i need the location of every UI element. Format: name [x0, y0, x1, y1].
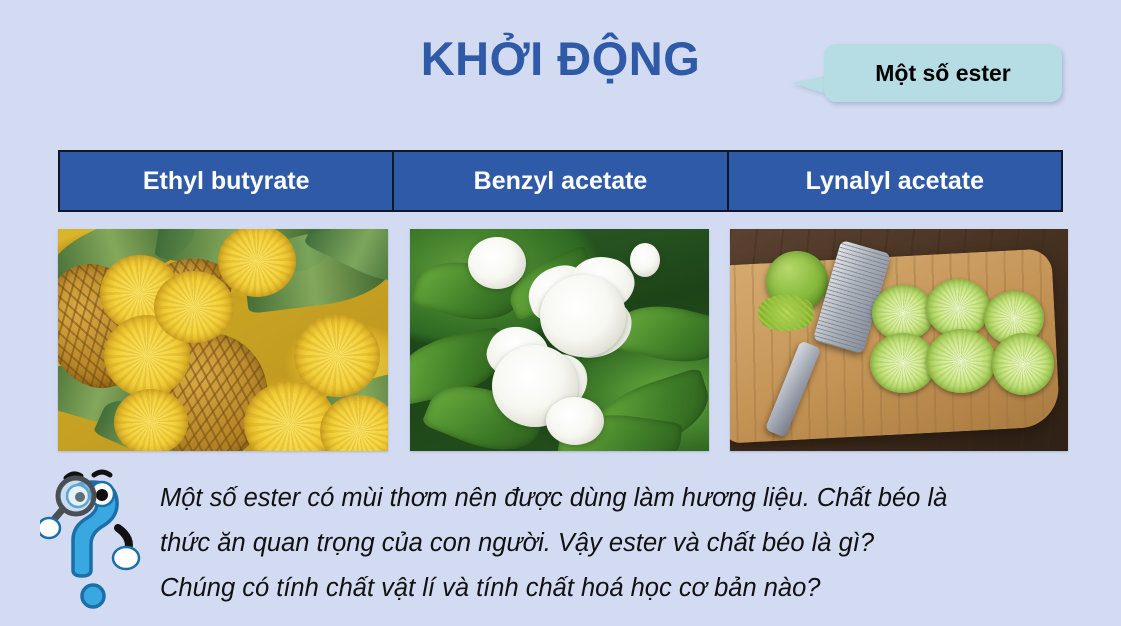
prompt-line-1: Một số ester có mùi thơm nên được dùng l…: [160, 476, 1100, 521]
header-label: Benzyl acetate: [474, 167, 648, 196]
prompt-text: Một số ester có mùi thơm nên được dùng l…: [160, 476, 1100, 611]
limes-photo: [730, 229, 1068, 451]
jasmine-photo: [410, 229, 709, 451]
callout-bubble: Một số ester: [824, 44, 1062, 102]
callout-label: Một số ester: [875, 60, 1010, 87]
ester-photo-row: [58, 229, 1068, 451]
header-cell-ethyl-butyrate: Ethyl butyrate: [60, 152, 394, 210]
question-mark-character-with-magnifier-icon: [40, 468, 152, 614]
header-cell-lynalyl-acetate: Lynalyl acetate: [729, 152, 1061, 210]
pineapples-photo: [58, 229, 388, 451]
callout-tail: [792, 76, 826, 94]
header-label: Ethyl butyrate: [143, 167, 310, 196]
ester-header-row: Ethyl butyrate Benzyl acetate Lynalyl ac…: [58, 150, 1063, 212]
header-label: Lynalyl acetate: [806, 167, 984, 196]
prompt-line-3: Chúng có tính chất vật lí và tính chất h…: [160, 566, 1100, 611]
prompt-line-2: thức ăn quan trọng của con người. Vậy es…: [160, 521, 1100, 566]
header-cell-benzyl-acetate: Benzyl acetate: [394, 152, 728, 210]
